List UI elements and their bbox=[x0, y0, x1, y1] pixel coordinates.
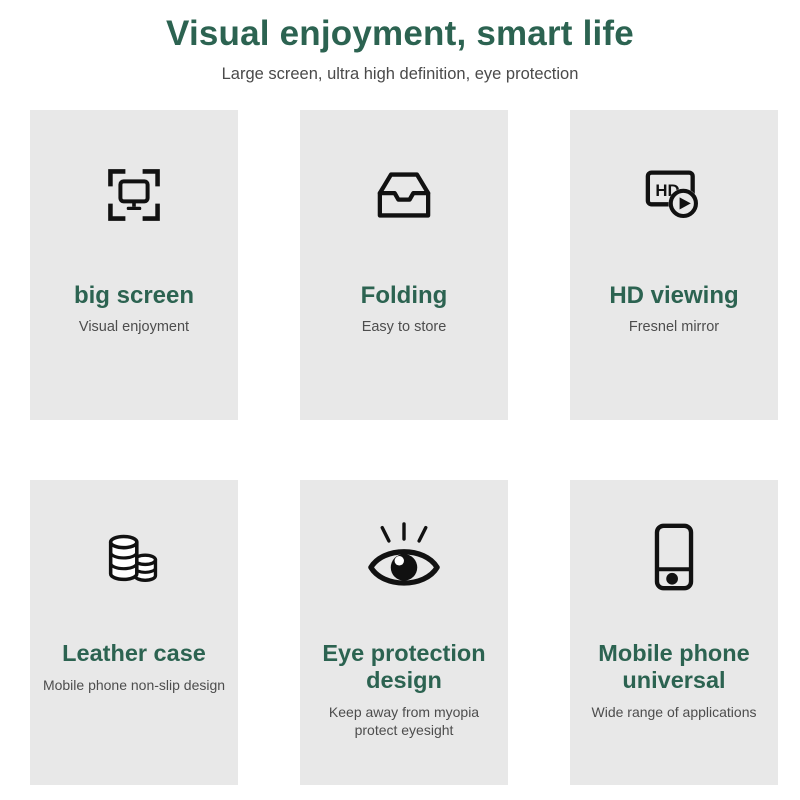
card-subtitle: Easy to store bbox=[306, 318, 502, 338]
feature-card-big-screen[interactable]: big screen Visual enjoyment bbox=[30, 110, 238, 420]
card-text-block: HD viewing Fresnel mirror bbox=[570, 282, 778, 338]
card-text-block: Leather case Mobile phone non-slip desig… bbox=[30, 640, 238, 695]
card-subtitle: Wide range of applications bbox=[576, 703, 772, 722]
feature-card-leather-case[interactable]: Leather case Mobile phone non-slip desig… bbox=[30, 480, 238, 785]
feature-card-folding[interactable]: Folding Easy to store bbox=[300, 110, 508, 420]
feature-card-grid: big screen Visual enjoyment Folding Easy… bbox=[30, 110, 778, 785]
card-text-block: Eye protection design Keep away from myo… bbox=[300, 640, 508, 740]
card-subtitle: Fresnel mirror bbox=[576, 318, 772, 338]
hd-video-icon: HD bbox=[570, 160, 778, 230]
card-subtitle: Keep away from myopia protect eyesight bbox=[306, 703, 502, 741]
card-text-block: Mobile phone universal Wide range of app… bbox=[570, 640, 778, 721]
card-text-block: Folding Easy to store bbox=[300, 282, 508, 338]
card-title: Eye protection design bbox=[306, 640, 502, 694]
feature-grid-page: Visual enjoyment, smart life Large scree… bbox=[0, 0, 800, 800]
card-title: Mobile phone universal bbox=[576, 640, 772, 694]
page-title: Visual enjoyment, smart life bbox=[0, 14, 800, 54]
card-title: big screen bbox=[36, 282, 232, 309]
screen-scan-icon bbox=[30, 160, 238, 230]
inbox-tray-icon bbox=[300, 160, 508, 230]
card-subtitle: Mobile phone non-slip design bbox=[36, 676, 232, 695]
card-title: Folding bbox=[306, 282, 502, 309]
stacked-disks-icon bbox=[30, 522, 238, 592]
feature-card-mobile-phone[interactable]: Mobile phone universal Wide range of app… bbox=[570, 480, 778, 785]
page-header: Visual enjoyment, smart life Large scree… bbox=[0, 0, 800, 85]
card-subtitle: Visual enjoyment bbox=[36, 318, 232, 338]
page-subtitle: Large screen, ultra high definition, eye… bbox=[0, 65, 800, 85]
card-text-block: big screen Visual enjoyment bbox=[30, 282, 238, 338]
feature-card-eye-protection[interactable]: Eye protection design Keep away from myo… bbox=[300, 480, 508, 785]
card-title: Leather case bbox=[36, 640, 232, 667]
eye-icon bbox=[300, 522, 508, 592]
feature-card-hd-viewing[interactable]: HD HD viewing Fresnel mirror bbox=[570, 110, 778, 420]
card-title: HD viewing bbox=[576, 282, 772, 309]
mobile-phone-icon bbox=[570, 522, 778, 592]
